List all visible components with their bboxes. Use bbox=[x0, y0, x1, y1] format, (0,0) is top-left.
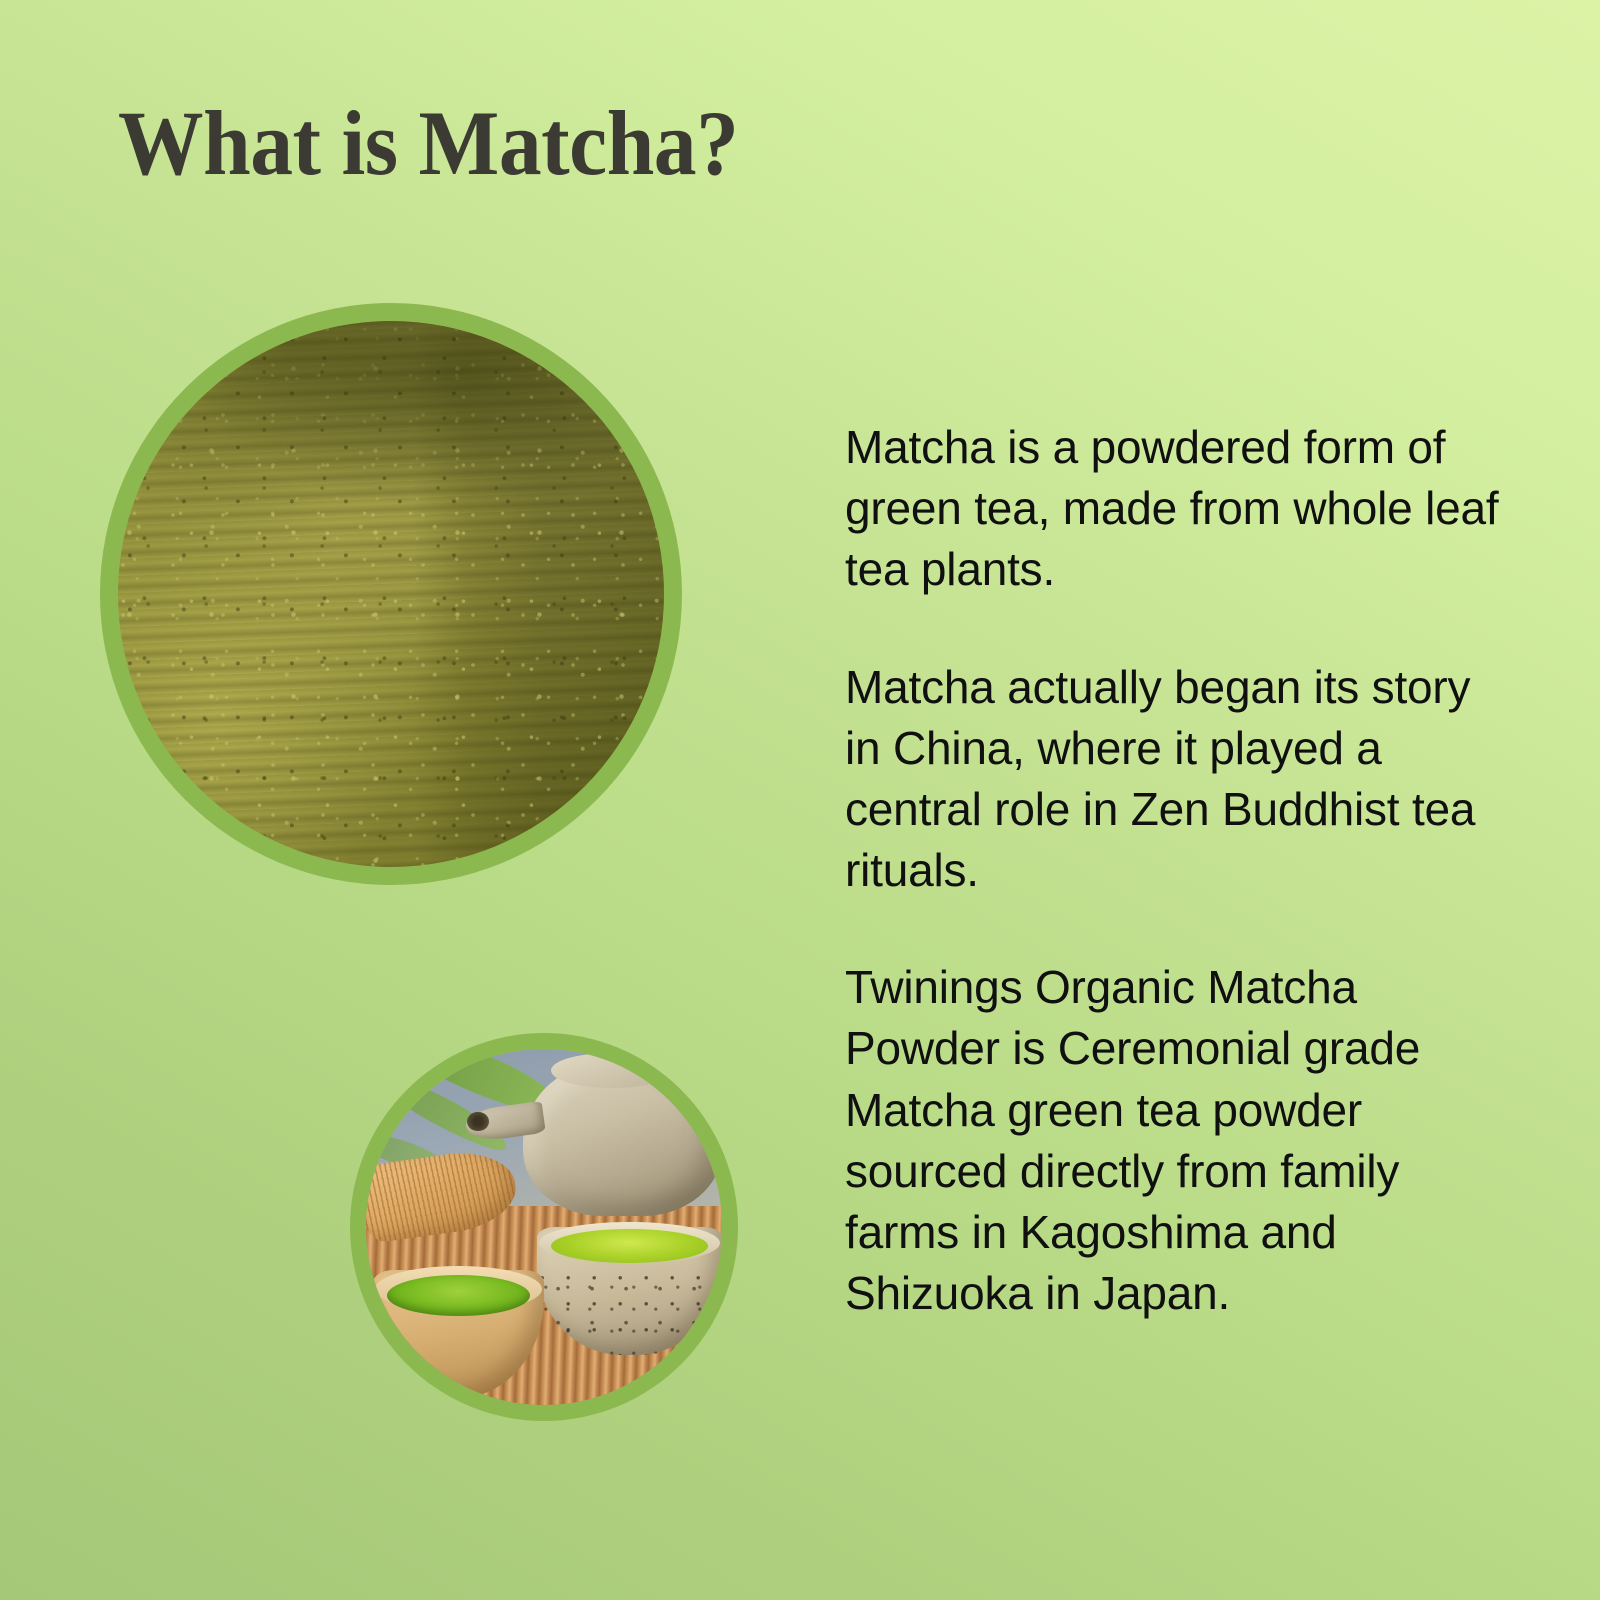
body-copy: Matcha is a powdered form of green tea, … bbox=[845, 417, 1505, 1324]
paragraph-history: Matcha actually began its story in China… bbox=[845, 657, 1505, 902]
matcha-ceremony-image bbox=[350, 1033, 738, 1421]
page-title: What is Matcha? bbox=[118, 97, 738, 189]
prepared-matcha-tea bbox=[551, 1229, 708, 1263]
ceremony-scene bbox=[366, 1049, 722, 1405]
matcha-powder-photo bbox=[118, 321, 664, 867]
infographic-canvas: What is Matcha? bbox=[0, 0, 1600, 1600]
paragraph-intro: Matcha is a powdered form of green tea, … bbox=[845, 417, 1505, 601]
matcha-powder-image bbox=[100, 303, 682, 885]
powder-shadow-overlay bbox=[118, 321, 664, 550]
teapot-spout-opening bbox=[467, 1112, 488, 1131]
paragraph-product: Twinings Organic Matcha Powder is Ceremo… bbox=[845, 957, 1505, 1324]
teapot-lid bbox=[551, 1053, 672, 1089]
green-matcha-powder bbox=[387, 1275, 529, 1316]
matcha-ceremony-photo bbox=[366, 1049, 722, 1405]
